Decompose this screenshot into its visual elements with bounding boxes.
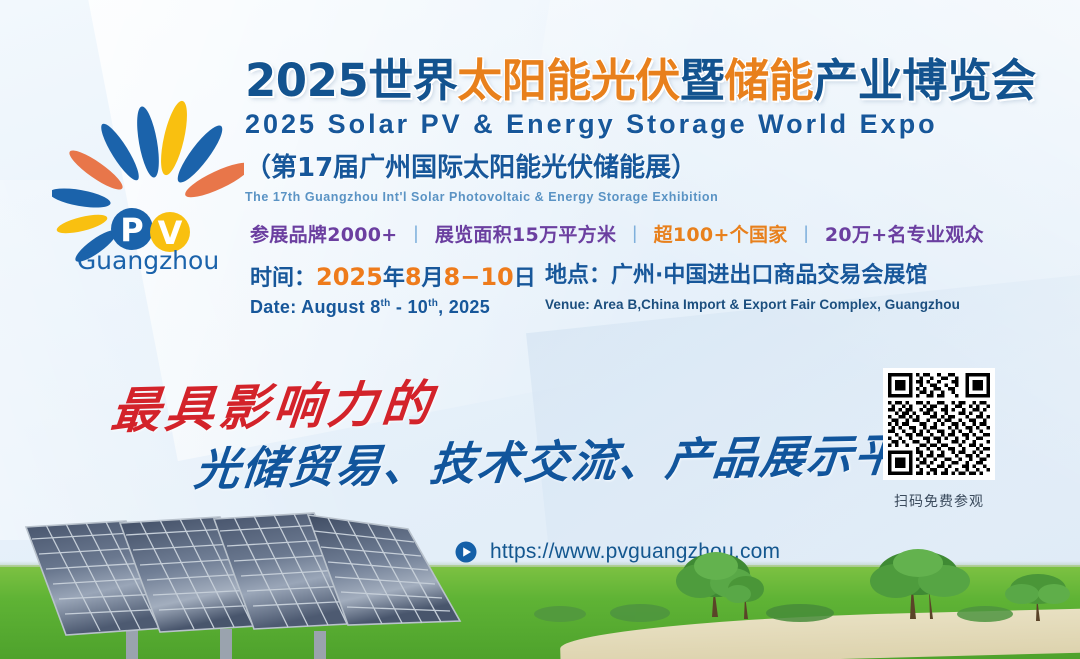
stat-separator: 丨 [407, 224, 426, 246]
date-en-mid: - 10 [391, 297, 429, 317]
title-segment: 储能 [724, 54, 813, 107]
date-year: 2025 [316, 263, 383, 291]
date-year-unit: 年 [383, 266, 405, 291]
date-en-ordinal: th [381, 298, 391, 309]
date-en: Date: August 8th - 10th, 2025 [250, 297, 536, 318]
date-en-suffix: , 2025 [438, 297, 490, 317]
logo-p-letter: P [120, 211, 143, 249]
logo-city-label: Guangzhou [77, 246, 219, 275]
pv-guangzhou-logo: P V Guangzhou [52, 96, 244, 278]
main-title-cn: 2025世界太阳能光伏暨储能产业博览会 [245, 58, 1045, 103]
stat-item: 参展品牌2000+ [250, 224, 398, 246]
title-block: 2025世界太阳能光伏暨储能产业博览会 2025 Solar PV & Ener… [245, 58, 1045, 204]
solar-panel-array [8, 499, 478, 659]
date-month-unit: 月 [422, 266, 444, 291]
qr-caption: 扫码免费参观 [878, 491, 1000, 511]
venue-block: 地点：广州·中国进出口商品交易会展馆 Venue: Area B,China I… [545, 262, 960, 312]
tree-small-left [725, 576, 764, 619]
stat-item: 展览面积15万平方米 [435, 224, 616, 246]
date-day-unit: 日 [514, 266, 536, 291]
date-label: 时间： [250, 266, 316, 291]
stat-item: 超100+个国家 [654, 224, 788, 246]
date-days: 8−10 [444, 263, 514, 291]
title-segment: 暨 [680, 54, 725, 107]
subtitle-en: The 17th Guangzhou Int'l Solar Photovolt… [245, 190, 1045, 204]
date-en-prefix: Date: August 8 [250, 297, 381, 317]
title-segment: 太阳能光伏 [457, 54, 680, 107]
venue-en: Venue: Area B,China Import & Export Fair… [545, 297, 960, 312]
main-title-en: 2025 Solar PV & Energy Storage World Exp… [245, 109, 1045, 140]
shrub-row [534, 604, 1013, 622]
date-block: 时间：2025年8月8−10日 Date: August 8th - 10th,… [250, 262, 536, 318]
venue-cn: 地点：广州·中国进出口商品交易会展馆 [545, 262, 960, 290]
tree-right-small [1005, 574, 1070, 621]
qr-block: 扫码免费参观 [878, 368, 1000, 511]
expo-promo-banner: P V Guangzhou 2025世界太阳能光伏暨储能产业博览会 2025 S… [0, 0, 1080, 659]
stat-separator: 丨 [625, 224, 644, 246]
date-cn: 时间：2025年8月8−10日 [250, 262, 536, 293]
subtitle-cn: （第17届广州国际太阳能光伏储能展） [245, 147, 1045, 184]
date-month: 8 [405, 263, 422, 291]
title-segment: 2025世界 [245, 54, 457, 107]
tree-large-right [870, 549, 970, 619]
panel-pole [314, 631, 326, 659]
date-en-ordinal: th [428, 298, 438, 309]
panel-pole [220, 629, 232, 659]
stat-item: 20万+名专业观众 [825, 224, 984, 246]
stat-separator: 丨 [797, 224, 816, 246]
panel-pole [126, 627, 138, 659]
title-segment: 产业博览会 [813, 54, 1036, 107]
stats-strip: 参展品牌2000+丨展览面积15万平方米丨超100+个国家丨20万+名专业观众 [250, 220, 984, 247]
qr-code[interactable] [883, 368, 995, 480]
